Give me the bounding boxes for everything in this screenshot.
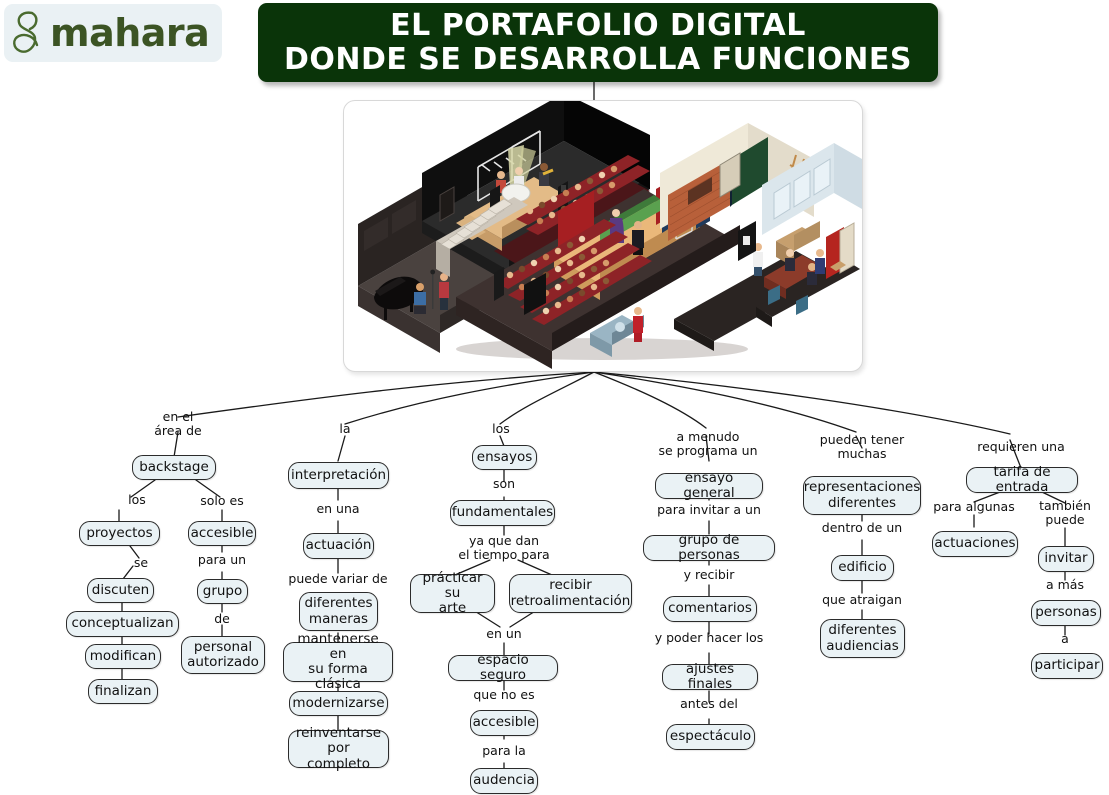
node-recibir-retroalimentacion[interactable]: recibir retroalimentación xyxy=(509,574,632,613)
node-reinventarse-por-completo[interactable]: reinventarse por completo xyxy=(288,730,389,768)
link-label-que-no-es: que no es xyxy=(449,688,559,702)
link-label-tambien-puede: también puede xyxy=(1020,499,1109,527)
node-discuten[interactable]: discuten xyxy=(87,578,154,603)
link-label-ya-que-dan: ya que dan el tiempo para xyxy=(424,534,584,562)
link-label-en-un: en un xyxy=(469,627,539,641)
node-modernizarse[interactable]: modernizarse xyxy=(289,691,388,716)
title-line-1: EL PORTAFOLIO DIGITAL xyxy=(390,11,806,41)
node-diferentes-audiencias[interactable]: diferentes audiencias xyxy=(820,619,905,658)
node-proyectos[interactable]: proyectos xyxy=(79,521,160,546)
node-espacio-seguro[interactable]: espacio seguro xyxy=(448,655,558,681)
mahara-wordmark: mahara xyxy=(50,14,209,52)
node-actuaciones[interactable]: actuaciones xyxy=(932,531,1018,557)
link-label-pueden-tener: pueden tener muchas xyxy=(792,433,932,461)
link-label-se: se xyxy=(121,556,161,570)
node-grupo[interactable]: grupo xyxy=(197,579,248,604)
node-diferentes-maneras[interactable]: diferentes maneras xyxy=(299,592,378,631)
theatre-cutaway-illustration xyxy=(344,101,862,371)
node-personas[interactable]: personas xyxy=(1031,600,1101,626)
node-representaciones-diferentes[interactable]: representaciones diferentes xyxy=(803,476,921,515)
link-label-solo-es: solo es xyxy=(182,494,262,508)
link-label-los-proyectos: los xyxy=(107,493,167,507)
node-invitar[interactable]: invitar xyxy=(1038,546,1094,572)
link-label-los-ensayos: los xyxy=(471,422,531,436)
node-participar[interactable]: participar xyxy=(1031,653,1103,679)
node-accesible-backstage[interactable]: accesible xyxy=(188,521,256,546)
link-label-y-poder-hacer-los: y poder hacer los xyxy=(619,631,799,645)
title-banner: EL PORTAFOLIO DIGITAL DONDE SE DESARROLL… xyxy=(258,3,938,82)
node-edificio[interactable]: edificio xyxy=(831,555,894,581)
node-audencia[interactable]: audencia xyxy=(470,768,538,794)
mahara-logo[interactable]: mahara xyxy=(4,4,222,62)
link-label-a-menudo: a menudo se programa un xyxy=(628,430,788,458)
node-grupo-de-personas[interactable]: grupo de personas xyxy=(643,535,775,561)
node-modifican[interactable]: modifican xyxy=(85,644,161,669)
link-label-para-invitar-a-un: para invitar a un xyxy=(629,503,789,517)
central-theatre-image xyxy=(343,100,863,372)
node-tarifa-de-entrada[interactable]: tarifa de entrada xyxy=(966,467,1078,493)
node-actuacion[interactable]: actuación xyxy=(303,533,374,559)
link-label-de: de xyxy=(202,612,242,626)
title-line-2: DONDE SE DESARROLLA FUNCIONES xyxy=(284,45,912,75)
node-practicar-su-arte[interactable]: prácticar su arte xyxy=(410,574,495,613)
link-label-la: la xyxy=(315,422,375,436)
node-accesible-audiencia[interactable]: accesible xyxy=(470,710,538,736)
node-interpretacion[interactable]: interpretación xyxy=(288,462,389,489)
link-label-que-atraigan: que atraigan xyxy=(792,593,932,607)
link-label-a: a xyxy=(1045,632,1085,646)
node-fundamentales[interactable]: fundamentales xyxy=(450,500,555,526)
link-label-a-mas: a más xyxy=(1025,578,1105,592)
node-ensayos[interactable]: ensayos xyxy=(472,445,537,470)
link-label-para-algunas: para algunas xyxy=(919,500,1029,514)
node-conceptualizan[interactable]: conceptualizan xyxy=(66,611,179,637)
node-ajustes-finales[interactable]: ajustes finales xyxy=(662,664,758,690)
node-mantenerse-forma-clasica[interactable]: mantenerse en su forma clásica xyxy=(283,642,393,682)
link-label-para-un: para un xyxy=(182,553,262,567)
link-label-dentro-de-un: dentro de un xyxy=(792,521,932,535)
node-backstage[interactable]: backstage xyxy=(132,455,216,480)
concept-map-canvas: mahara EL PORTAFOLIO DIGITAL DONDE SE DE… xyxy=(0,0,1109,795)
mahara-infinity-leaf-icon xyxy=(8,7,52,59)
link-label-requieren-una: requieren una xyxy=(946,440,1096,454)
node-comentarios[interactable]: comentarios xyxy=(663,596,757,622)
node-finalizan[interactable]: finalizan xyxy=(88,679,158,704)
link-label-en-una: en una xyxy=(293,502,383,516)
node-espectaculo[interactable]: espectáculo xyxy=(666,724,755,750)
node-ensayo-general[interactable]: ensayo general xyxy=(655,473,763,499)
link-label-antes-del: antes del xyxy=(654,697,764,711)
link-label-en-el-area-de: en el área de xyxy=(118,410,238,438)
link-label-y-recibir: y recibir xyxy=(659,568,759,582)
link-label-son: son xyxy=(474,477,534,491)
node-personal-autorizado[interactable]: personal autorizado xyxy=(181,636,265,674)
link-label-para-la: para la xyxy=(459,744,549,758)
link-label-puede-variar-de: puede variar de xyxy=(268,572,408,586)
